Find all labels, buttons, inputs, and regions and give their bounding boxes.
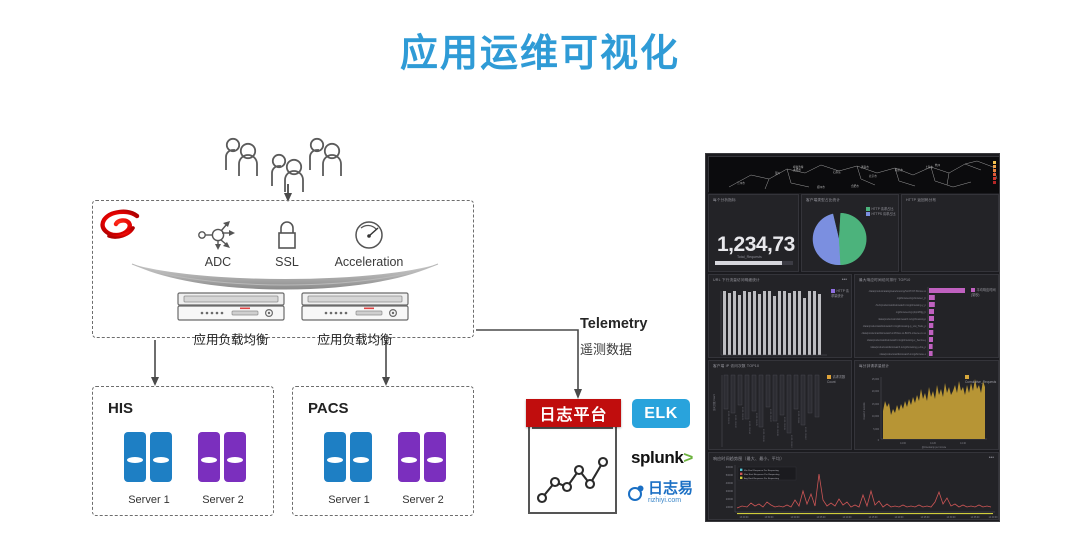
server-group-icon: Server 1 — [318, 432, 380, 506]
dashboard-panel-url-traffic[interactable]: URL 下行流量访问明细统计 ••• — [708, 274, 852, 358]
load-balancer-appliance: 应用负载均衡 — [300, 292, 410, 348]
app-zone-label-his: HIS — [108, 400, 133, 417]
svg-text:14:05:00: 14:05:00 — [817, 517, 827, 519]
rizhiyi-domain: rizhiyi.com — [648, 497, 693, 504]
svg-text:10.21.33.107: 10.21.33.107 — [769, 409, 771, 423]
svg-text:@timestamp per minute: @timestamp per minute — [922, 446, 947, 449]
svg-text:合肥市: 合肥市 — [851, 184, 859, 188]
panel-title: 每分钟请求量统计 — [859, 364, 889, 369]
server-label: Server 1 — [318, 494, 380, 506]
svg-text:/data/productcat/distrowatch.i: /data/productcat/distrowatch.in/cgi/brow… — [870, 346, 926, 349]
dashboard-panel-requests-per-minute[interactable]: 每分钟请求量统计 25,00020,000 15,00010,000 5,000… — [854, 360, 999, 450]
svg-text:14:40: 14:40 — [960, 443, 966, 445]
telemetry-label-cn: 遥测数据 — [580, 339, 632, 358]
svg-text:/data/productcat/distrowatch.i: /data/productcat/distrowatch.in/cgi/brow… — [863, 325, 927, 328]
svg-text:石家庄: 石家庄 — [833, 170, 841, 174]
line-chart-icon — [533, 432, 612, 510]
svg-text:Avg Real Response Per Requesti: Avg Real Response Per Requesting — [744, 477, 780, 480]
svg-text:济南市: 济南市 — [861, 165, 869, 169]
appliance-label: 应用负载均衡 — [176, 329, 286, 348]
server-group-icon: Server 1 — [118, 432, 180, 506]
svg-text:15,000: 15,000 — [872, 404, 880, 406]
svg-text:10.21.33.104: 10.21.33.104 — [748, 421, 750, 435]
panel-title: 客户端 IP 访问次数 TOP10 — [713, 364, 759, 369]
svg-text:兰州市: 兰州市 — [737, 181, 745, 185]
svg-text:14:25:00: 14:25:00 — [921, 517, 931, 519]
panel-title: 每个分析指标 — [713, 198, 736, 203]
dashboard-panel-response-time[interactable]: 响应时间趋势图（最大、最小、平均） ••• 6000050000 4000030… — [708, 452, 999, 520]
load-balancer-appliance: 应用负载均衡 — [176, 292, 286, 348]
panel-legend: Cumulative_Requests — [965, 375, 998, 385]
svg-text:20,000: 20,000 — [872, 391, 880, 393]
dashboard-panel-client-type-pie[interactable]: 客户端类型占比统计 HTTP 请求占比 HTTPS 请求占比 — [801, 194, 899, 272]
vendor-splunk-logo[interactable]: splunk> — [631, 448, 693, 468]
svg-text:13:50:00: 13:50:00 — [765, 517, 775, 519]
svg-text:南京市: 南京市 — [895, 168, 903, 172]
panel-title: 最大响应时间访问排行 TOP10 — [859, 278, 910, 283]
svg-text:14:20:00: 14:20:00 — [895, 517, 905, 519]
svg-text:20000: 20000 — [726, 497, 734, 501]
svg-text:太原市: 太原市 — [793, 168, 801, 172]
log-analytics-dashboard[interactable]: 兰州市银川 呼和浩特太原市 石家庄郑州市 济南市合肥市 南京市上海市 杭州北京市 — [705, 153, 1000, 522]
svg-text:25,000: 25,000 — [872, 379, 880, 381]
svg-text:14:20: 14:20 — [930, 443, 936, 445]
panel-title: URL 下行流量访问明细统计 — [713, 278, 760, 283]
svg-text:/hub/productcat/distrowatch.in: /hub/productcat/distrowatch.in/cgi/brows… — [876, 304, 927, 307]
svg-text:Max Real Response Per Requesti: Max Real Response Per Requesting — [744, 473, 780, 476]
speedometer-icon — [314, 218, 424, 252]
svg-text:Count of records: Count of records — [863, 402, 866, 420]
app-zone-label-pacs: PACS — [308, 400, 349, 417]
svg-text:杭州: 杭州 — [935, 163, 941, 167]
svg-text:10.21.33.101: 10.21.33.101 — [727, 411, 729, 425]
server-label: Server 2 — [192, 494, 254, 506]
dashboard-panel-client-ip-top10[interactable]: 客户端 IP 访问次数 TOP10 10.21.33.101 10.21.33.… — [708, 360, 852, 450]
svg-text:/data/productcat/distrowatch.i: /data/productcat/distrowatch.in/Pillow-x… — [862, 332, 927, 335]
splunk-chevron-icon: > — [683, 448, 693, 467]
rizhiyi-mark-icon — [628, 484, 645, 501]
svg-text:50000: 50000 — [726, 473, 734, 477]
svg-text:10,000: 10,000 — [872, 416, 880, 418]
vendor-elk-button[interactable]: ELK — [632, 399, 690, 428]
svg-text:10000: 10000 — [726, 505, 734, 509]
pie-legend: HTTP 请求占比 HTTPS 请求占比 — [866, 207, 896, 217]
svg-text:13:40:00: 13:40:00 — [740, 517, 750, 519]
svg-text:14:00:00: 14:00:00 — [791, 517, 801, 519]
svg-text:/data/productcat/distrowatch.i: /data/productcat/distrowatch.in/cgi/brow… — [879, 353, 926, 356]
svg-text:40000: 40000 — [726, 481, 734, 485]
panel-menu-icon[interactable]: ••• — [989, 456, 994, 460]
page-title: 应用运维可视化 — [0, 22, 1080, 77]
panel-legend: HTTP 请求量统计 — [831, 289, 851, 299]
svg-text:60000: 60000 — [726, 465, 734, 469]
progress-scrollbar[interactable] — [715, 261, 793, 265]
dashboard-panel-http-codes[interactable]: HTTP 返回码分布 — [901, 194, 999, 272]
server-label: Server 2 — [392, 494, 454, 506]
radware-swirl-logo — [98, 208, 142, 244]
dashboard-panel-map[interactable]: 兰州市银川 呼和浩特太原市 石家庄郑州市 济南市合肥市 南京市上海市 杭州北京市 — [708, 156, 999, 192]
rack-appliance-icon — [176, 292, 286, 322]
server-group-icon: Server 2 — [192, 432, 254, 506]
card-divider — [532, 427, 613, 429]
svg-text:0: 0 — [878, 440, 880, 442]
dashboard-panel-slowest-urls[interactable]: 最大响应时间访问排行 TOP10 /data/productcatalog — [854, 274, 999, 358]
log-platform-badge[interactable]: 日志平台 — [526, 399, 621, 427]
svg-text:/cgi/browser/cgi-browser_j=: /cgi/browser/cgi-browser_j= — [897, 297, 927, 300]
svg-text:Min Real Response Per Requesti: Min Real Response Per Requesting — [744, 469, 780, 472]
svg-text:10.21.33.108: 10.21.33.108 — [776, 423, 778, 437]
svg-text:10.21.33.109: 10.21.33.109 — [783, 417, 785, 431]
svg-text:14:00: 14:00 — [900, 443, 906, 445]
svg-text:银川: 银川 — [775, 171, 781, 175]
splunk-wordmark: splunk — [631, 448, 683, 467]
svg-text:/data/productcat/distrowatch.i: /data/productcat/distrowatch.in/cgi/brow… — [878, 318, 926, 321]
response-time-line-chart: 6000050000 4000030000 2000010000 13:40:0… — [709, 462, 1000, 520]
svg-text:10.21.33.103: 10.21.33.103 — [741, 407, 743, 421]
slide-canvas: 应用运维可视化 — [0, 0, 1080, 541]
panel-legend: 平均响应时间(毫秒) — [971, 288, 998, 298]
rack-appliance-icon — [300, 292, 410, 322]
server-group-icon: Server 2 — [392, 432, 454, 506]
rizhiyi-wordmark: 日志易 — [648, 481, 693, 496]
svg-text:10.21.33.111: 10.21.33.111 — [797, 411, 799, 424]
panel-legend: 请求次数 Count — [827, 375, 851, 385]
dashboard-panel-total-requests[interactable]: 每个分析指标 1,234,73 Total_Requests — [708, 194, 799, 272]
svg-text:/data/productcat/distrowatch.i: /data/productcat/distrowatch.in/cgi/brow… — [867, 339, 926, 342]
svg-text:10.21.33.110: 10.21.33.110 — [790, 435, 792, 448]
server-label: Server 1 — [118, 494, 180, 506]
svg-text:14:15:00: 14:15:00 — [869, 517, 879, 519]
svg-text:5,000: 5,000 — [873, 429, 879, 431]
svg-text:30000: 30000 — [726, 489, 734, 493]
total-requests-value: 1,234,73 — [717, 233, 795, 257]
svg-text:10.21.33.105: 10.21.33.105 — [755, 413, 757, 427]
svg-text:10.21.33.112: 10.21.33.112 — [804, 427, 806, 440]
svg-text:14:40:00: 14:40:00 — [989, 517, 999, 519]
map-visualization: 兰州市银川 呼和浩特太原市 石家庄郑州市 济南市合肥市 南京市上海市 杭州北京市 — [709, 157, 1000, 193]
user-group-icon — [306, 136, 350, 183]
svg-text:郑州市: 郑州市 — [817, 185, 825, 189]
svg-text:10.21.33.106: 10.21.33.106 — [762, 429, 764, 443]
total-requests-caption: Total_Requests — [737, 255, 762, 259]
svg-text:北京市: 北京市 — [869, 174, 877, 178]
svg-text:上海市: 上海市 — [925, 165, 933, 169]
appliance-label: 应用负载均衡 — [300, 329, 410, 348]
svg-text:/cgi/browser/cgi.php/MNjg_b: /cgi/browser/cgi.php/MNjg_b — [896, 311, 927, 314]
svg-text:/data/productcatalog/warehousi: /data/productcatalog/warehousing/SLOT/OT… — [869, 290, 927, 293]
svg-text:访问次数 Count: 访问次数 Count — [712, 394, 716, 411]
panel-title: 客户端类型占比统计 — [806, 198, 840, 203]
svg-text:10.21.33.102: 10.21.33.102 — [734, 415, 736, 429]
svg-text:14:35:00: 14:35:00 — [971, 517, 981, 519]
vendor-rizhiyi-logo[interactable]: 日志易 rizhiyi.com — [628, 481, 693, 504]
panel-menu-icon[interactable]: ••• — [842, 278, 847, 282]
panel-title: HTTP 返回码分布 — [906, 198, 936, 203]
telemetry-label-en: Telemetry — [580, 316, 647, 332]
svg-text:14:30:00: 14:30:00 — [947, 517, 957, 519]
user-group-icon — [222, 136, 266, 183]
svg-text:14:10:00: 14:10:00 — [843, 517, 853, 519]
